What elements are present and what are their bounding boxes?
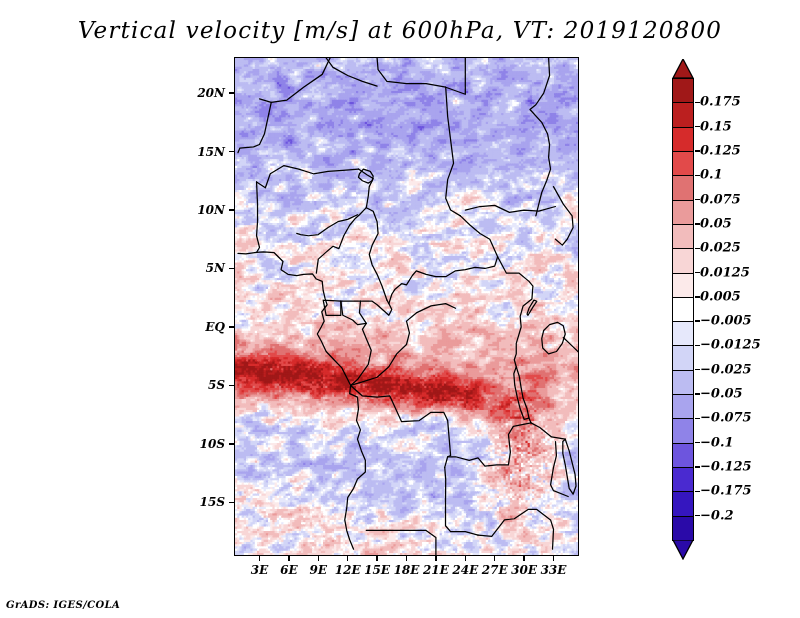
latitude-tick-label: 20N <box>197 86 225 100</box>
longitude-tick-label: 15E <box>364 563 390 577</box>
colorbar-tick-label: 0.005 <box>700 289 741 304</box>
colorbar-tick-mark <box>695 466 700 467</box>
colorbar-tick-mark <box>695 442 700 443</box>
colorbar-tick-mark <box>695 320 700 321</box>
latitude-tick-label: 10N <box>197 203 225 217</box>
colorbar-tick-mark <box>695 369 700 370</box>
colorbar-band <box>672 467 694 493</box>
colorbar-tick-label: 0.15 <box>700 119 732 134</box>
colorbar-band <box>672 273 694 299</box>
colorbar-band <box>672 127 694 153</box>
longitude-tick-mark <box>435 555 437 561</box>
colorbar-band <box>672 248 694 274</box>
longitude-tick-mark <box>553 555 555 561</box>
colorbar-max-arrow <box>672 59 694 79</box>
latitude-tick-label: 10S <box>200 437 225 451</box>
colorbar-tick-mark <box>695 296 700 297</box>
longitude-tick-label: 30E <box>511 563 537 577</box>
longitude-tick-mark <box>465 555 467 561</box>
colorbar-tick-label: 0.075 <box>700 192 741 207</box>
colorbar-band <box>672 516 694 542</box>
longitude-tick-mark <box>288 555 290 561</box>
longitude-tick-mark <box>523 555 525 561</box>
colorbar-tick-mark <box>695 126 700 127</box>
colorbar-tick-mark <box>695 175 700 176</box>
longitude-tick-mark <box>376 555 378 561</box>
colorbar-tick-label: −0.075 <box>700 411 752 426</box>
colorbar-tick-mark <box>695 418 700 419</box>
colorbar-tick-mark <box>695 491 700 492</box>
colorbar-tick-label: 0.1 <box>700 168 723 183</box>
colorbar-band <box>672 394 694 420</box>
colorbar-tick-mark <box>695 515 700 516</box>
colorbar-tick-label: 0.05 <box>700 216 732 231</box>
colorbar-tick-label: 0.025 <box>700 241 741 256</box>
coastline-border-overlay <box>235 58 578 555</box>
page-title: Vertical velocity [m/s] at 600hPa, VT: 2… <box>0 18 800 44</box>
longitude-tick-label: 18E <box>394 563 420 577</box>
longitude-tick-mark <box>406 555 408 561</box>
colorbar-tick-mark <box>695 102 700 103</box>
colorbar-tick-label: −0.0125 <box>700 338 761 353</box>
longitude-tick-mark <box>347 555 349 561</box>
colorbar-band <box>672 78 694 104</box>
colorbar-tick-label: 0.0125 <box>700 265 750 280</box>
map-plot-area <box>235 58 578 555</box>
latitude-tick-label: 15N <box>197 145 225 159</box>
colorbar-band <box>672 224 694 250</box>
latitude-tick-mark <box>229 385 235 387</box>
longitude-tick-mark <box>259 555 261 561</box>
colorbar-tick-label: −0.125 <box>700 460 752 475</box>
longitude-tick-label: 21E <box>423 563 449 577</box>
latitude-tick-label: 5S <box>208 378 225 392</box>
colorbar-band <box>672 443 694 469</box>
colorbar-min-arrow <box>672 540 694 560</box>
colorbar-tick-label: −0.175 <box>700 484 752 499</box>
colorbar-tick-mark <box>695 150 700 151</box>
latitude-tick-mark <box>229 268 235 270</box>
latitude-tick-label: 5N <box>206 261 225 275</box>
latitude-tick-mark <box>229 443 235 445</box>
longitude-tick-label: 33E <box>541 563 567 577</box>
longitude-tick-mark <box>494 555 496 561</box>
longitude-tick-label: 24E <box>452 563 478 577</box>
longitude-tick-label: 3E <box>251 563 269 577</box>
longitude-tick-label: 27E <box>482 563 508 577</box>
colorbar-band <box>672 370 694 396</box>
colorbar-band <box>672 175 694 201</box>
latitude-tick-label: 15S <box>200 495 225 509</box>
colorbar-tick-mark <box>695 199 700 200</box>
longitude-tick-label: 6E <box>280 563 298 577</box>
latitude-tick-mark <box>229 209 235 211</box>
colorbar-tick-label: −0.1 <box>700 435 734 450</box>
colorbar-tick-label: 0.175 <box>700 95 741 110</box>
latitude-tick-mark <box>229 326 235 328</box>
colorbar-tick-mark <box>695 272 700 273</box>
colorbar-tick-label: 0.125 <box>700 143 741 158</box>
colorbar-tick-label: −0.2 <box>700 508 734 523</box>
colorbar-band <box>672 297 694 323</box>
colorbar-band <box>672 321 694 347</box>
colorbar-band <box>672 102 694 128</box>
colorbar-band <box>672 200 694 226</box>
latitude-tick-mark <box>229 502 235 504</box>
longitude-tick-mark <box>318 555 320 561</box>
colorbar-tick-mark <box>695 345 700 346</box>
colorbar-tick-mark <box>695 223 700 224</box>
latitude-tick-mark <box>229 151 235 153</box>
latitude-tick-label: EQ <box>205 320 225 334</box>
colorbar-band <box>672 418 694 444</box>
colorbar-tick-mark <box>695 393 700 394</box>
longitude-tick-label: 9E <box>310 563 328 577</box>
longitude-tick-label: 12E <box>335 563 361 577</box>
colorbar-tick-label: −0.05 <box>700 387 743 402</box>
colorbar-tick-mark <box>695 248 700 249</box>
colorbar-tick-label: −0.005 <box>700 314 752 329</box>
latitude-tick-mark <box>229 92 235 94</box>
credit-label: GrADS: IGES/COLA <box>6 600 120 611</box>
colorbar-tick-label: −0.025 <box>700 362 752 377</box>
colorbar-band <box>672 151 694 177</box>
colorbar-band <box>672 345 694 371</box>
colorbar-band <box>672 491 694 517</box>
